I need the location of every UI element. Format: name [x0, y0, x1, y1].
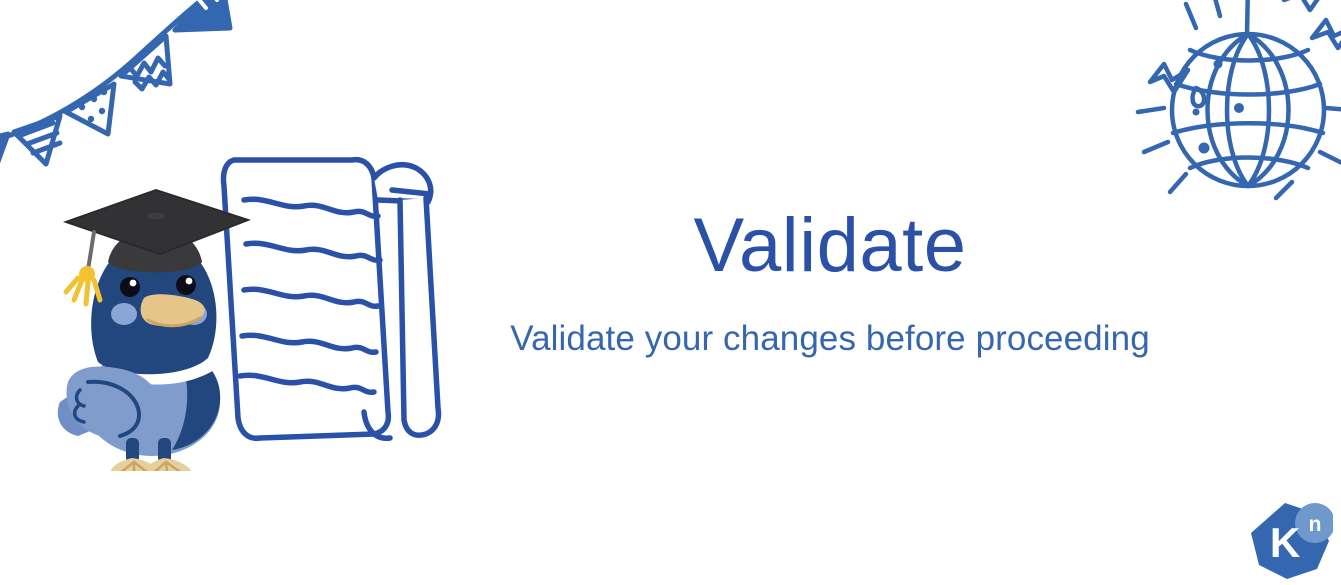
page-title: Validate — [460, 206, 1200, 286]
certificate-scroll-icon — [178, 138, 478, 448]
logo-letter-n: n — [1309, 513, 1322, 536]
logo-letter-k: K — [1270, 519, 1300, 566]
disco-ball-icon — [1120, 0, 1341, 223]
graduate-bird-mascot — [52, 186, 257, 471]
page-subtitle: Validate your changes before proceeding — [460, 286, 1200, 360]
hero-text-block: Validate Validate your changes before pr… — [460, 206, 1200, 360]
hero-banner: Validate Validate your changes before pr… — [0, 0, 1341, 585]
brand-logo[interactable]: K n — [1247, 501, 1333, 585]
party-bunting-icon — [0, 0, 240, 177]
